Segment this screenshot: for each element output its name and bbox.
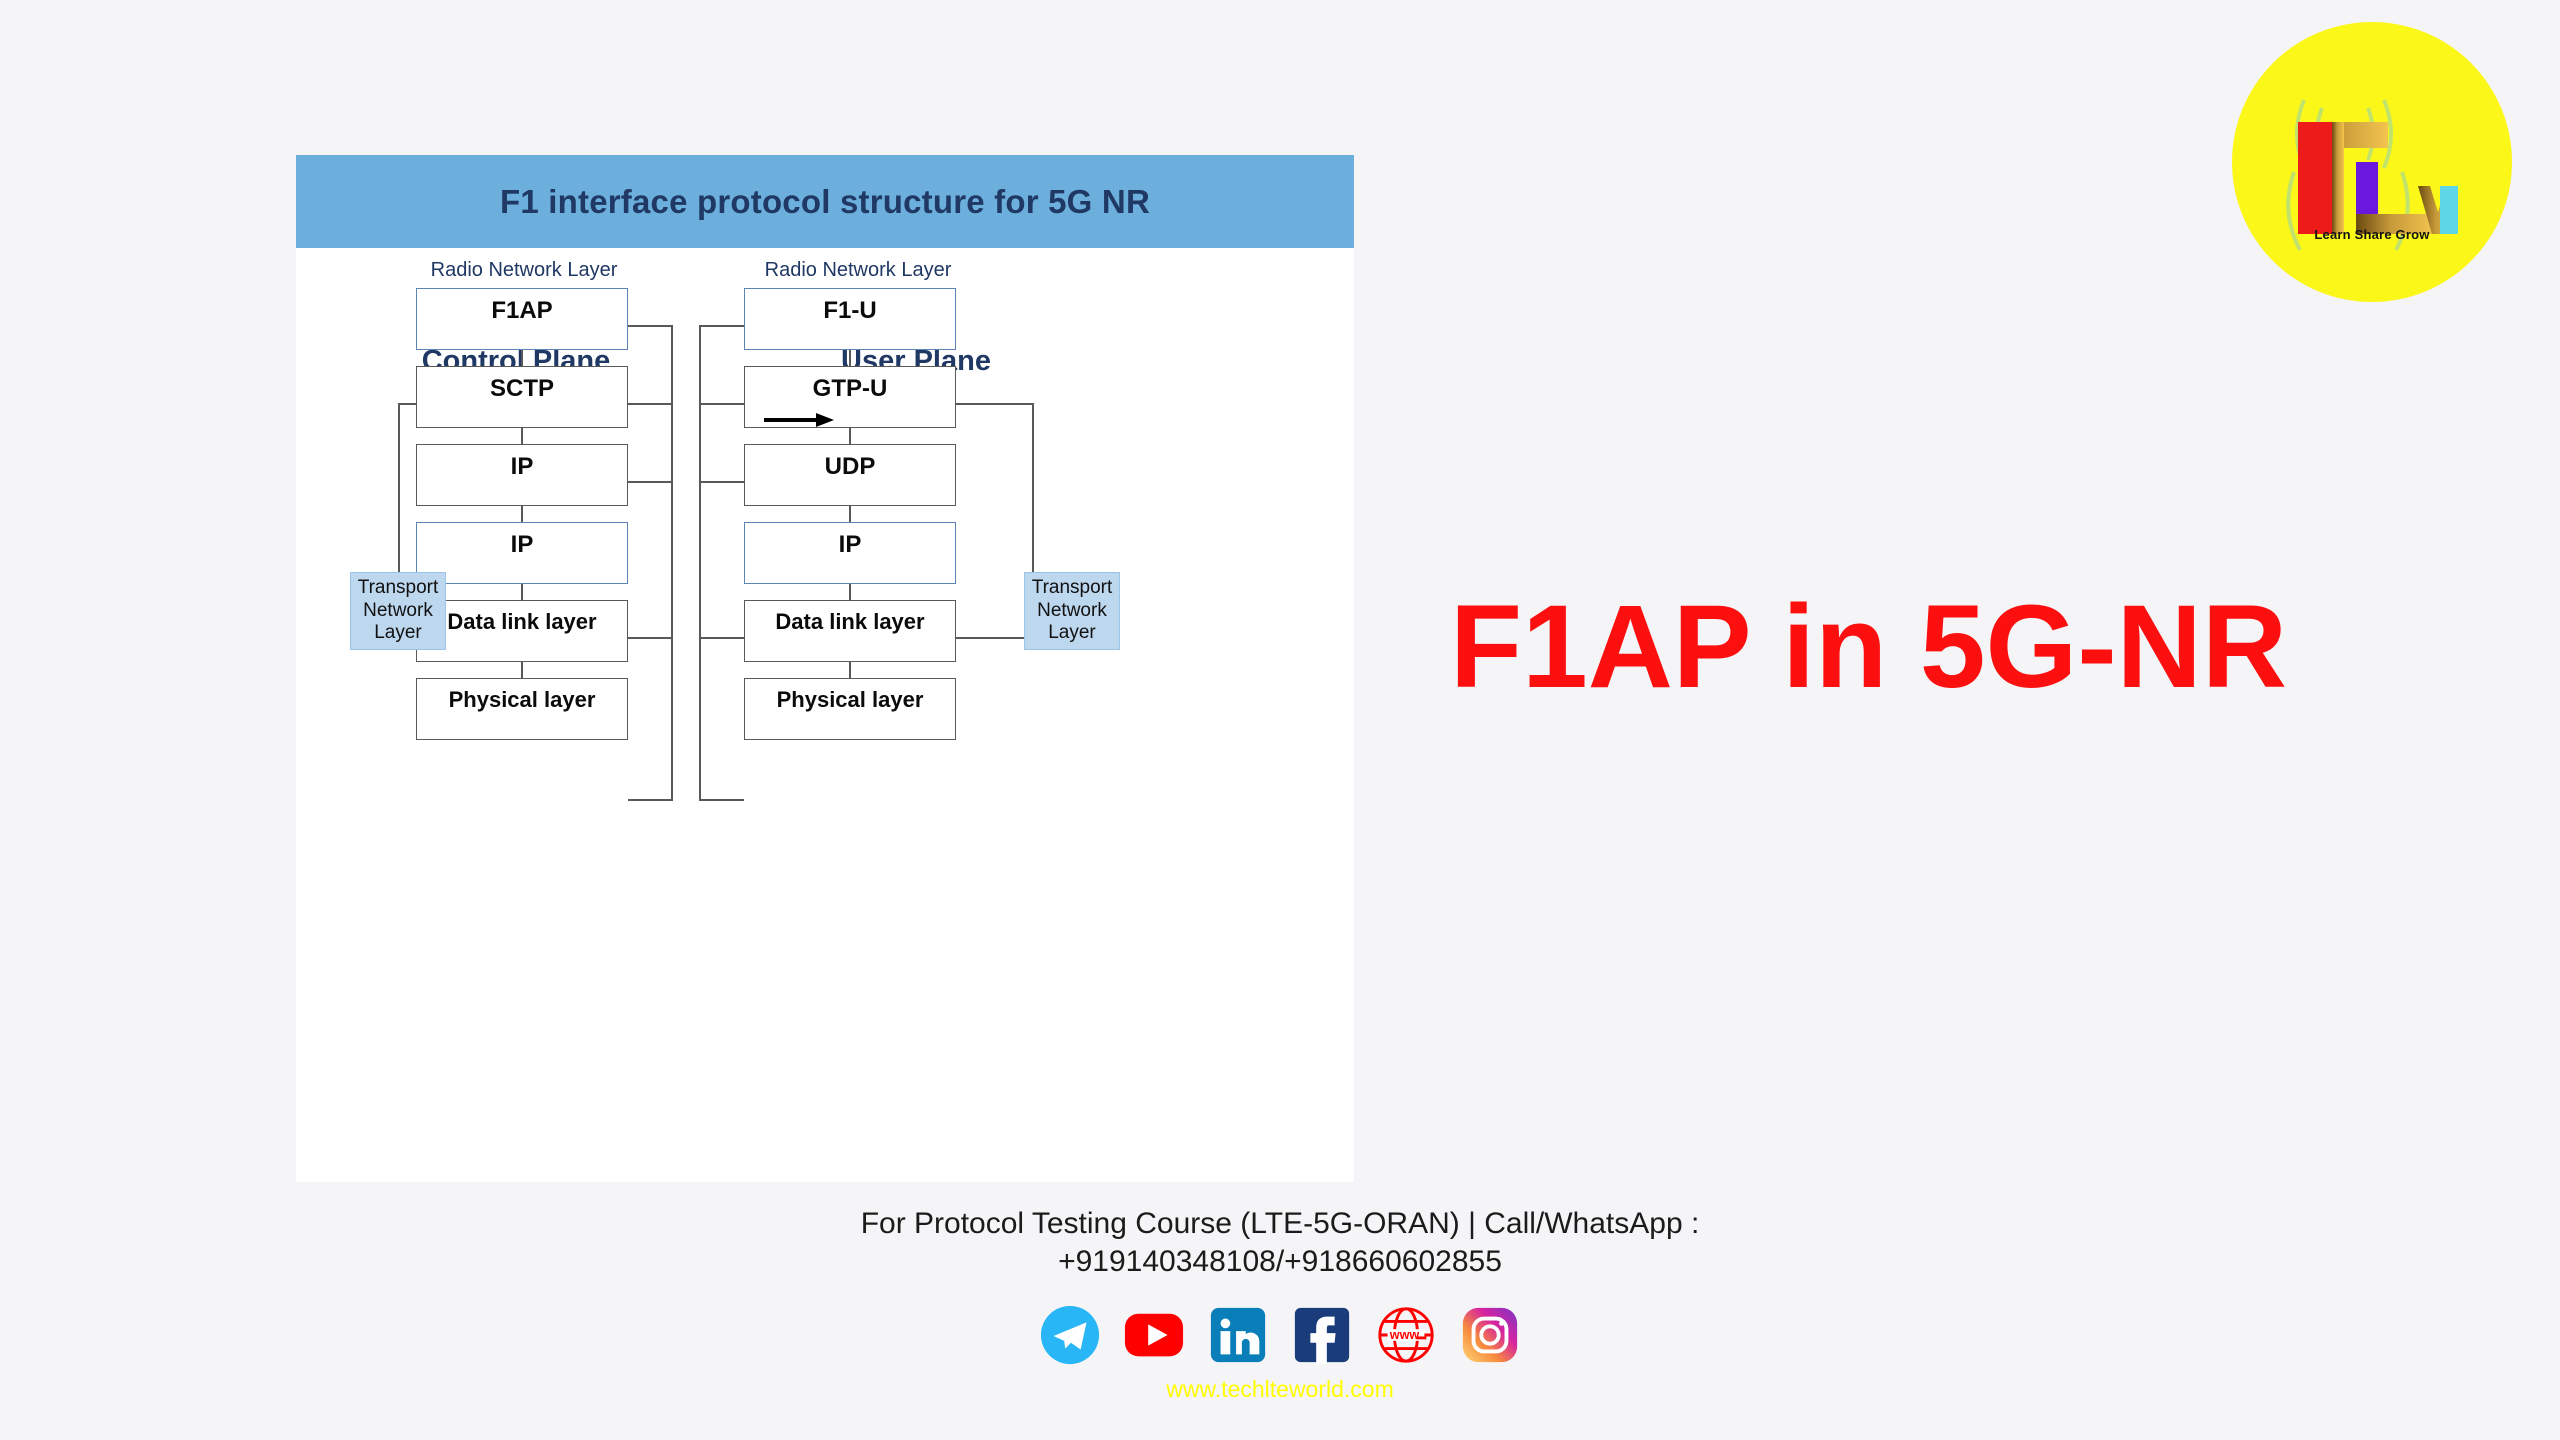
transport-network-layer-user: Transport Network Layer <box>1024 572 1120 650</box>
radio-network-layer-label-user: Radio Network Layer <box>708 259 1008 282</box>
footer-contact-line2: +919140348108/+918660602855 <box>0 1243 2560 1281</box>
linkedin-icon[interactable] <box>1207 1304 1269 1366</box>
layer-label-physical-user: Physical layer <box>744 687 956 713</box>
connector-datalink-physical-user <box>849 662 851 678</box>
layer-label-ip-upper: IP <box>416 453 628 481</box>
logo-graphic <box>2232 22 2512 302</box>
connector-f1ap-sctp <box>521 350 523 366</box>
website-globe-icon[interactable]: www. <box>1375 1304 1437 1366</box>
bracket-arm-gtpu <box>699 403 744 405</box>
connector-datalink-physical <box>521 662 523 678</box>
facebook-icon[interactable] <box>1291 1304 1353 1366</box>
tnl-connector-bottom-user <box>956 637 1034 639</box>
bracket-arm-sctp <box>628 403 673 405</box>
bracket-arm-physical <box>628 799 673 801</box>
bracket-arm-udp <box>699 481 744 483</box>
bracket-arm-f1u <box>699 325 744 327</box>
radio-network-layer-label-control: Radio Network Layer <box>374 259 674 282</box>
bracket-arm-ip1 <box>628 481 673 483</box>
transport-network-layer-label-user: Transport Network Layer <box>1032 577 1113 644</box>
svg-text:www.: www. <box>1389 1328 1422 1342</box>
bracket-arm-datalink-user <box>699 637 744 639</box>
bracket-arm-f1ap <box>628 325 673 327</box>
footer: For Protocol Testing Course (LTE-5G-ORAN… <box>0 1205 2560 1403</box>
bracket-spine-control <box>671 325 673 799</box>
connector-sctp-ip <box>521 428 523 444</box>
page-title: F1AP in 5G-NR <box>1450 588 2510 706</box>
layer-label-f1ap: F1AP <box>416 297 628 325</box>
connector-gtpu-udp <box>849 428 851 444</box>
layer-label-udp: UDP <box>744 453 956 481</box>
transport-network-layer-label-control: Transport Network Layer <box>358 577 439 644</box>
connector-ip-ip <box>521 506 523 522</box>
connector-udp-ip <box>849 506 851 522</box>
logo-tagline: Learn Share Grow <box>2232 227 2512 242</box>
layer-label-physical: Physical layer <box>416 687 628 713</box>
bracket-arm-datalink <box>628 637 673 639</box>
youtube-icon[interactable] <box>1123 1304 1185 1366</box>
instagram-icon[interactable] <box>1459 1304 1521 1366</box>
website-url[interactable]: www.techlteworld.com <box>0 1376 2560 1403</box>
transport-network-layer-control: Transport Network Layer <box>350 572 446 650</box>
connector-ip-datalink-user <box>849 584 851 600</box>
layer-label-gtpu: GTP-U <box>744 375 956 403</box>
bracket-spine-user <box>699 325 701 799</box>
social-links-row: www. <box>0 1304 2560 1366</box>
brand-logo: Learn Share Grow <box>2232 22 2512 302</box>
layer-label-ip-user: IP <box>744 531 956 559</box>
diagram-title: F1 interface protocol structure for 5G N… <box>500 183 1150 221</box>
layer-label-f1u: F1-U <box>744 297 956 325</box>
layer-label-sctp: SCTP <box>416 375 628 403</box>
flow-arrow-icon <box>764 411 834 429</box>
tnl-connector-top-user <box>956 403 1034 405</box>
bracket-arm-physical-user <box>699 799 744 801</box>
layer-label-ip-lower: IP <box>416 531 628 559</box>
connector-ip-datalink <box>521 584 523 600</box>
layer-label-datalink-user: Data link layer <box>744 609 956 635</box>
diagram-card: F1 interface protocol structure for 5G N… <box>296 155 1354 1182</box>
diagram-header: F1 interface protocol structure for 5G N… <box>296 155 1354 248</box>
connector-f1u-gtpu <box>849 350 851 366</box>
footer-contact-line1: For Protocol Testing Course (LTE-5G-ORAN… <box>0 1205 2560 1243</box>
telegram-icon[interactable] <box>1039 1304 1101 1366</box>
layer-label-datalink: Data link layer <box>416 609 628 635</box>
